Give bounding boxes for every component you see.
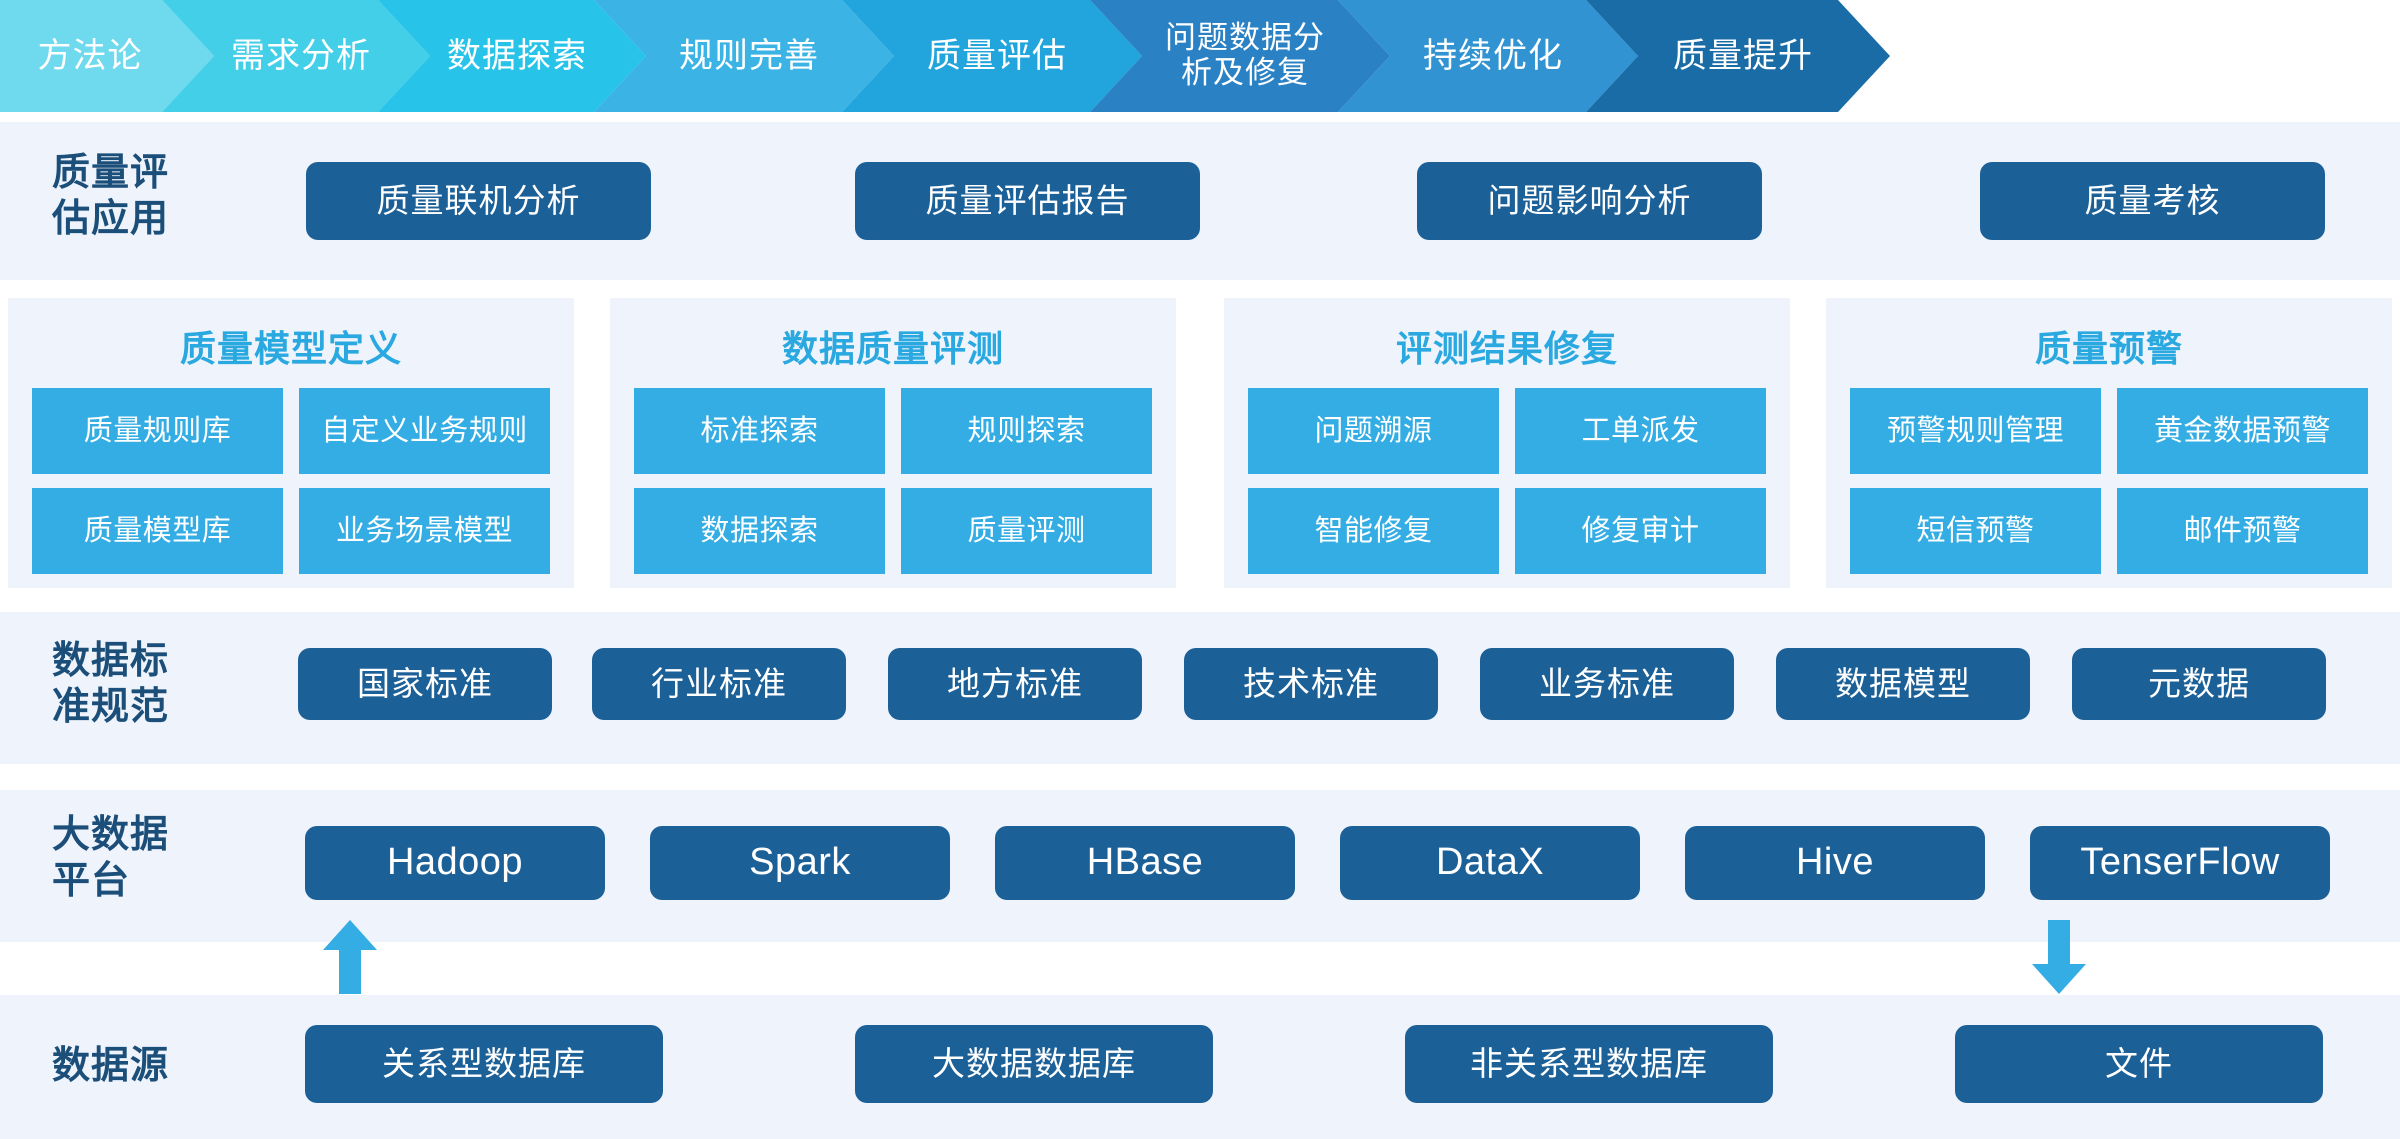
capability-panel-title: 评测结果修复 bbox=[1224, 320, 1790, 372]
capability-panel-title: 数据质量评测 bbox=[610, 320, 1176, 372]
process-step-label: 问题数据分 析及修复 bbox=[1165, 21, 1325, 90]
output-arrow-down-icon bbox=[2032, 920, 2086, 994]
capability-tile[interactable]: 工单派发 bbox=[1515, 388, 1766, 474]
capability-tile[interactable]: 黄金数据预警 bbox=[2117, 388, 2368, 474]
platform-item-label: TenserFlow bbox=[2080, 841, 2279, 885]
platform-item-3[interactable]: DataX bbox=[1340, 826, 1640, 900]
data-source-row-title: 数据源 bbox=[52, 1043, 169, 1089]
standards-item-4[interactable]: 业务标准 bbox=[1480, 648, 1734, 720]
big-data-platform-row-title: 大数据 平台 bbox=[52, 812, 169, 905]
standards-item-5[interactable]: 数据模型 bbox=[1776, 648, 2030, 720]
capability-panel-title: 质量预警 bbox=[1826, 320, 2392, 372]
standards-item-3[interactable]: 技术标准 bbox=[1184, 648, 1438, 720]
standards-item-label: 地方标准 bbox=[947, 665, 1083, 703]
standards-item-6[interactable]: 元数据 bbox=[2072, 648, 2326, 720]
capability-tile-grid: 标准探索 规则探索 数据探索 质量评测 bbox=[634, 388, 1152, 574]
process-step-label: 持续优化 bbox=[1423, 37, 1563, 75]
platform-item-4[interactable]: Hive bbox=[1685, 826, 1985, 900]
capability-panel-data-quality-assessment: 数据质量评测 标准探索 规则探索 数据探索 质量评测 bbox=[610, 298, 1176, 588]
capability-tile[interactable]: 问题溯源 bbox=[1248, 388, 1499, 474]
datasource-item-0[interactable]: 关系型数据库 bbox=[305, 1025, 663, 1103]
platform-item-0[interactable]: Hadoop bbox=[305, 826, 605, 900]
process-step-label: 质量提升 bbox=[1673, 37, 1813, 75]
capability-tile[interactable]: 修复审计 bbox=[1515, 488, 1766, 574]
capability-panel-quality-alerting: 质量预警 预警规则管理 黄金数据预警 短信预警 邮件预警 bbox=[1826, 298, 2392, 588]
data-standards-row: 数据标 准规范 国家标准 行业标准 地方标准 技术标准 业务标准 数据模型 元数… bbox=[0, 612, 2400, 764]
quality-app-item-label: 质量评估报告 bbox=[926, 182, 1130, 220]
standards-item-label: 国家标准 bbox=[357, 665, 493, 703]
capability-tile[interactable]: 短信预警 bbox=[1850, 488, 2101, 574]
platform-item-label: HBase bbox=[1087, 841, 1204, 885]
capability-tile-grid: 质量规则库 自定义业务规则 质量模型库 业务场景模型 bbox=[32, 388, 550, 574]
capability-tile[interactable]: 标准探索 bbox=[634, 388, 885, 474]
platform-item-1[interactable]: Spark bbox=[650, 826, 950, 900]
quality-app-item-0[interactable]: 质量联机分析 bbox=[306, 162, 651, 240]
standards-item-2[interactable]: 地方标准 bbox=[888, 648, 1142, 720]
capability-panel-quality-model: 质量模型定义 质量规则库 自定义业务规则 质量模型库 业务场景模型 bbox=[8, 298, 574, 588]
capability-panel-result-remediation: 评测结果修复 问题溯源 工单派发 智能修复 修复审计 bbox=[1224, 298, 1790, 588]
standards-item-label: 数据模型 bbox=[1835, 665, 1971, 703]
quality-application-row: 质量评 估应用 质量联机分析 质量评估报告 问题影响分析 质量考核 bbox=[0, 122, 2400, 280]
datasource-item-label: 关系型数据库 bbox=[382, 1045, 586, 1083]
platform-item-5[interactable]: TenserFlow bbox=[2030, 826, 2330, 900]
standards-item-label: 行业标准 bbox=[651, 665, 787, 703]
capability-tile[interactable]: 智能修复 bbox=[1248, 488, 1499, 574]
datasource-item-label: 非关系型数据库 bbox=[1470, 1045, 1708, 1083]
quality-app-item-3[interactable]: 质量考核 bbox=[1980, 162, 2325, 240]
architecture-diagram: 方法论 需求分析 数据探索 规则完善 质量评估 问题数据分 析及修复 持续优化 … bbox=[0, 0, 2400, 1139]
capability-tile-grid: 问题溯源 工单派发 智能修复 修复审计 bbox=[1248, 388, 1766, 574]
ingest-arrow-up-icon bbox=[323, 920, 377, 994]
capability-tile[interactable]: 质量评测 bbox=[901, 488, 1152, 574]
platform-item-label: Hadoop bbox=[387, 841, 523, 885]
standards-item-0[interactable]: 国家标准 bbox=[298, 648, 552, 720]
quality-app-item-1[interactable]: 质量评估报告 bbox=[855, 162, 1200, 240]
process-step-label: 规则完善 bbox=[679, 37, 819, 75]
quality-app-item-label: 质量联机分析 bbox=[377, 182, 581, 220]
quality-app-item-label: 问题影响分析 bbox=[1488, 182, 1692, 220]
quality-app-item-label: 质量考核 bbox=[2085, 182, 2221, 220]
capability-tile[interactable]: 业务场景模型 bbox=[299, 488, 550, 574]
platform-item-label: DataX bbox=[1436, 841, 1544, 885]
capability-tile[interactable]: 质量规则库 bbox=[32, 388, 283, 474]
capability-tile[interactable]: 自定义业务规则 bbox=[299, 388, 550, 474]
process-step-label: 数据探索 bbox=[447, 37, 587, 75]
capability-tile[interactable]: 规则探索 bbox=[901, 388, 1152, 474]
capability-tile[interactable]: 邮件预警 bbox=[2117, 488, 2368, 574]
process-step-label: 需求分析 bbox=[231, 37, 371, 75]
datasource-item-label: 大数据数据库 bbox=[932, 1045, 1136, 1083]
capability-tile-grid: 预警规则管理 黄金数据预警 短信预警 邮件预警 bbox=[1850, 388, 2368, 574]
standards-item-label: 业务标准 bbox=[1539, 665, 1675, 703]
standards-item-label: 技术标准 bbox=[1243, 665, 1379, 703]
capability-tile[interactable]: 预警规则管理 bbox=[1850, 388, 2101, 474]
standards-item-1[interactable]: 行业标准 bbox=[592, 648, 846, 720]
standards-item-label: 元数据 bbox=[2148, 665, 2250, 703]
data-source-row: 数据源 关系型数据库 大数据数据库 非关系型数据库 文件 bbox=[0, 995, 2400, 1139]
datasource-item-3[interactable]: 文件 bbox=[1955, 1025, 2323, 1103]
datasource-item-2[interactable]: 非关系型数据库 bbox=[1405, 1025, 1773, 1103]
platform-item-2[interactable]: HBase bbox=[995, 826, 1295, 900]
data-standards-row-title: 数据标 准规范 bbox=[52, 638, 169, 731]
platform-item-label: Spark bbox=[749, 841, 851, 885]
quality-application-row-title: 质量评 估应用 bbox=[52, 150, 169, 243]
platform-item-label: Hive bbox=[1796, 841, 1874, 885]
capability-tile[interactable]: 质量模型库 bbox=[32, 488, 283, 574]
process-banner: 方法论 需求分析 数据探索 规则完善 质量评估 问题数据分 析及修复 持续优化 … bbox=[0, 0, 2400, 112]
process-step-label: 方法论 bbox=[38, 37, 143, 75]
datasource-item-1[interactable]: 大数据数据库 bbox=[855, 1025, 1213, 1103]
process-step-label: 质量评估 bbox=[927, 37, 1067, 75]
capability-tile[interactable]: 数据探索 bbox=[634, 488, 885, 574]
quality-app-item-2[interactable]: 问题影响分析 bbox=[1417, 162, 1762, 240]
capability-panel-title: 质量模型定义 bbox=[8, 320, 574, 372]
datasource-item-label: 文件 bbox=[2105, 1045, 2173, 1083]
